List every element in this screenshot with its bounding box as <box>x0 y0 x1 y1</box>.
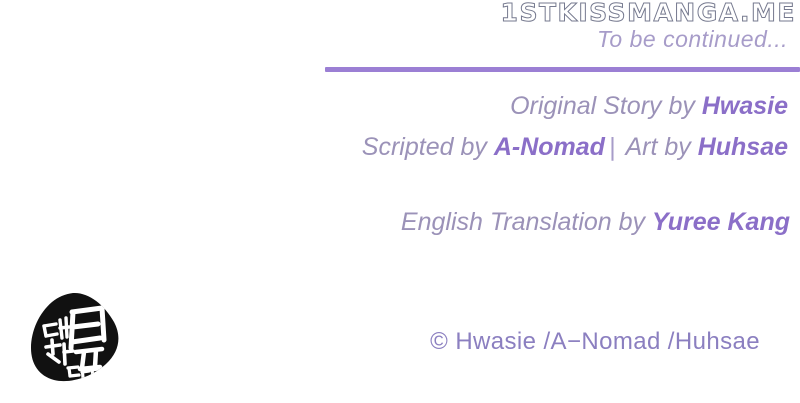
divider-line <box>325 67 800 72</box>
to-be-continued-text: To be continued... <box>597 26 788 52</box>
korean-seal-icon <box>26 290 126 390</box>
credit-art-label: Art by <box>619 133 697 161</box>
credit-separator: | <box>605 133 620 161</box>
credit-translation: English Translation by Yuree Kang <box>401 208 790 237</box>
chapter-end-credits-page: 1STKISSMANGA.ME To be continued... Origi… <box>0 0 800 403</box>
site-watermark: 1STKISSMANGA.ME <box>501 0 796 28</box>
copyright-notice: © Hwasie /A−Nomad /Huhsae <box>430 328 760 356</box>
credit-original-story-name: Hwasie <box>702 92 788 120</box>
credit-scripted-label: Scripted by <box>362 133 494 161</box>
credit-original-story: Original Story by Hwasie <box>510 92 788 121</box>
credit-scripted-art: Scripted by A-Nomad| Art by Huhsae <box>362 133 788 162</box>
credit-art-name: Huhsae <box>698 133 788 161</box>
korean-seal-logo <box>26 290 126 390</box>
credit-translation-label: English Translation by <box>401 208 652 236</box>
credit-translation-name: Yuree Kang <box>652 208 790 236</box>
credit-original-story-label: Original Story by <box>510 92 702 120</box>
credit-scripted-name: A-Nomad <box>494 133 605 161</box>
